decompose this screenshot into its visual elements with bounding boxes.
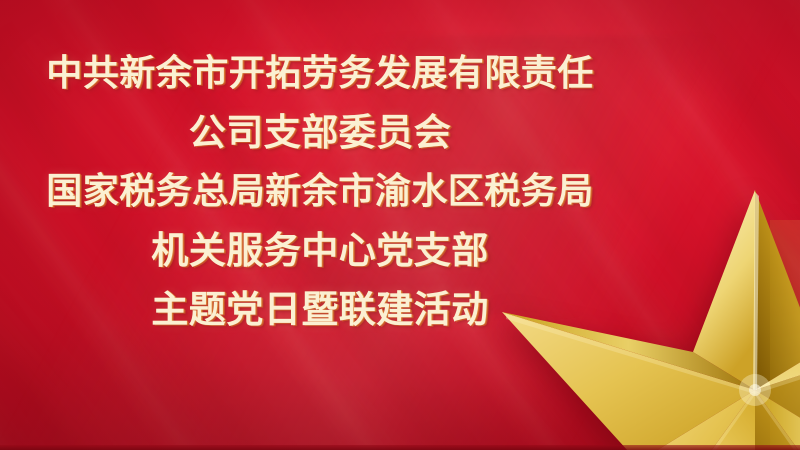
headline-line-5: 主题党日暨联建活动 <box>0 280 640 339</box>
headline-line-3: 国家税务总局新余市渝水区税务局 <box>0 162 640 221</box>
headline-block: 中共新余市开拓劳务发展有限责任 公司支部委员会 国家税务总局新余市渝水区税务局 … <box>0 0 640 339</box>
bottom-edge-band <box>0 445 800 450</box>
headline-line-2: 公司支部委员会 <box>0 103 640 162</box>
event-banner: 中共新余市开拓劳务发展有限责任 公司支部委员会 国家税务总局新余市渝水区税务局 … <box>0 0 800 450</box>
headline-line-4: 机关服务中心党支部 <box>0 221 640 280</box>
headline-line-1: 中共新余市开拓劳务发展有限责任 <box>0 44 640 103</box>
